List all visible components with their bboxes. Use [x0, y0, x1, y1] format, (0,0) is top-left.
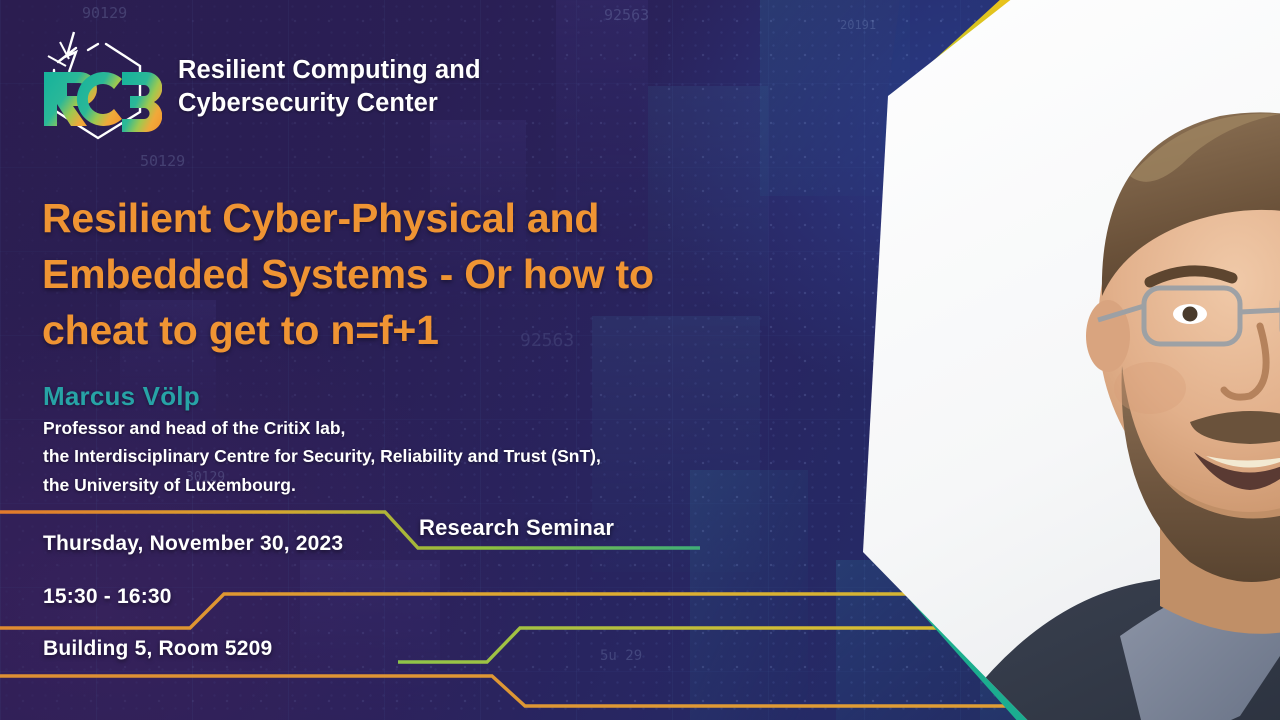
affiliation-line3: the University of Luxembourg. — [43, 471, 763, 499]
talk-title-line2: Embedded Systems - Or how to — [42, 246, 742, 302]
affiliation-line1: Professor and head of the CritiX lab, — [43, 414, 763, 442]
event-date: Thursday, November 30, 2023 — [43, 532, 343, 556]
speaker-name: Marcus Völp — [43, 381, 200, 412]
rc3-logo-block: Resilient Computing and Cybersecurity Ce… — [36, 26, 481, 148]
affiliation-line2: the Interdisciplinary Centre for Securit… — [43, 442, 763, 470]
brand-name: Resilient Computing and Cybersecurity Ce… — [178, 54, 481, 119]
event-type-label: Research Seminar — [419, 515, 614, 541]
speaker-affiliation: Professor and head of the CritiX lab, th… — [43, 414, 763, 499]
speaker-portrait-hexagon — [720, 0, 1280, 720]
portrait-photo — [860, 0, 1280, 720]
brand-name-line1: Resilient Computing and — [178, 54, 481, 87]
seminar-poster: 90129 92563 50129 92563 30129 5u 29 7310… — [0, 0, 1280, 720]
talk-title: Resilient Cyber-Physical and Embedded Sy… — [42, 190, 742, 358]
brand-name-line2: Cybersecurity Center — [178, 87, 481, 120]
talk-title-line1: Resilient Cyber-Physical and — [42, 190, 742, 246]
talk-title-line3: cheat to get to n=f+1 — [42, 302, 742, 358]
event-location: Building 5, Room 5209 — [43, 637, 272, 661]
event-time: 15:30 - 16:30 — [43, 585, 172, 609]
rc3-hexagon-logo-icon — [36, 26, 162, 148]
